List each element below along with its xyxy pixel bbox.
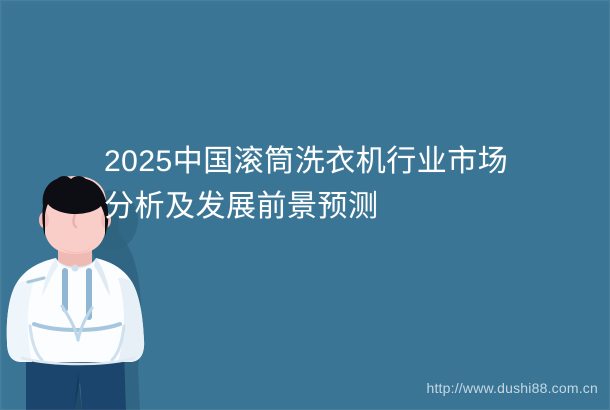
title-line-1: 2025中国滚筒洗衣机行业市场 — [104, 139, 584, 184]
banner-root: 2025中国滚筒洗衣机行业市场 分析及发展前景预测 http://www.dus… — [0, 0, 610, 410]
watermark-url: http://www.dushi88.com.cn — [426, 380, 598, 396]
page-title: 2025中国滚筒洗衣机行业市场 分析及发展前景预测 — [104, 139, 584, 229]
title-line-2: 分析及发展前景预测 — [104, 184, 584, 229]
hoodie — [7, 258, 144, 364]
